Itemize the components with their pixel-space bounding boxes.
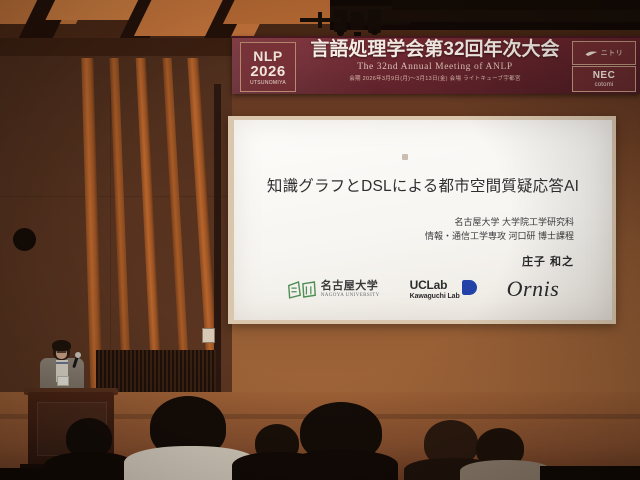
presenter-lanyard xyxy=(56,362,68,364)
presenter-hair xyxy=(52,340,71,351)
nlp-city: UTSUNOMIYA xyxy=(250,81,286,86)
projection-screen: 知識グラフとDSLによる都市空間質疑応答AI 名古屋大学 大学院工学研究科 情報… xyxy=(234,120,612,320)
affiliation-line-2: 情報・通信工学専攻 河口研 博士課程 xyxy=(425,230,574,244)
stage-light xyxy=(368,9,381,33)
affiliation-line-1: 名古屋大学 大学院工学研究科 xyxy=(425,216,574,230)
audience-shoulders xyxy=(460,460,552,480)
bird-icon xyxy=(585,50,598,57)
nlp-logo-badge: NLP 2026 UTSUNOMIYA xyxy=(240,42,296,92)
uclab-blob-icon xyxy=(462,280,477,295)
slide-affiliation: 名古屋大学 大学院工学研究科 情報・通信工学専攻 河口研 博士課程 xyxy=(425,216,574,244)
audience-shoulders xyxy=(286,450,398,480)
logo-ornis: Ornis xyxy=(507,276,560,302)
sponsor-nitori: ニトリ xyxy=(572,41,636,65)
slide-cursor-icon xyxy=(402,154,408,160)
uclab-title: UCLab xyxy=(410,279,460,291)
lighting-truss-upper xyxy=(392,0,640,10)
wall-sign xyxy=(202,328,215,343)
sponsor-nec-label: NEC xyxy=(593,71,616,81)
nagoya-university-en: NAGOYA UNIVERSITY xyxy=(321,293,380,298)
banner-text-block: 言語処理学会第32回年次大会 The 32nd Annual Meeting o… xyxy=(300,40,570,82)
sponsor-cotomi-label: cotomi xyxy=(595,82,614,88)
uclab-subtitle: Kawaguchi Lab xyxy=(410,293,460,300)
slide-logo-row: 名古屋大学 NAGOYA UNIVERSITY UCLab Kawaguchi … xyxy=(234,276,612,302)
logo-uclab: UCLab Kawaguchi Lab xyxy=(410,279,477,300)
ornis-text: Ornis xyxy=(507,276,560,302)
audience-seat-row xyxy=(540,466,640,480)
sponsor-nec-cotomi: NEC cotomi xyxy=(572,66,636,92)
banner-title-jp: 言語処理学会第32回年次大会 xyxy=(300,40,570,60)
presenter-glasses-icon xyxy=(57,351,66,353)
nlp-acronym: NLP xyxy=(253,49,283,63)
conference-hall-photo: NLP 2026 UTSUNOMIYA 言語処理学会第32回年次大会 The 3… xyxy=(0,0,640,480)
uclab-text: UCLab Kawaguchi Lab xyxy=(410,279,460,300)
banner-title-en: The 32nd Annual Meeting of ANLP xyxy=(300,62,570,72)
stage-light xyxy=(351,12,364,30)
audience-seat-row xyxy=(0,468,60,480)
nagoya-university-text: 名古屋大学 NAGOYA UNIVERSITY xyxy=(321,281,380,298)
conference-banner: NLP 2026 UTSUNOMIYA 言語処理学会第32回年次大会 The 3… xyxy=(232,36,640,94)
presenter-name-badge xyxy=(57,376,69,386)
nagoya-university-mark-icon xyxy=(287,280,317,299)
wall-vent xyxy=(13,228,36,251)
nagoya-university-jp: 名古屋大学 xyxy=(321,281,380,292)
microphone-head xyxy=(75,352,81,358)
truss-arm xyxy=(318,12,322,28)
presenter-name: 庄子 和之 xyxy=(522,253,574,269)
slide-title: 知識グラフとDSLによる都市空間質疑応答AI xyxy=(234,174,612,196)
sponsor-nitori-label: ニトリ xyxy=(601,48,624,58)
banner-dates: 会期 2026年3月9日(月)〜3月13日(金) 会場 ライトキューブ宇都宮 xyxy=(300,74,570,82)
nlp-year: 2026 xyxy=(250,64,285,79)
logo-nagoya-university: 名古屋大学 NAGOYA UNIVERSITY xyxy=(287,280,380,299)
